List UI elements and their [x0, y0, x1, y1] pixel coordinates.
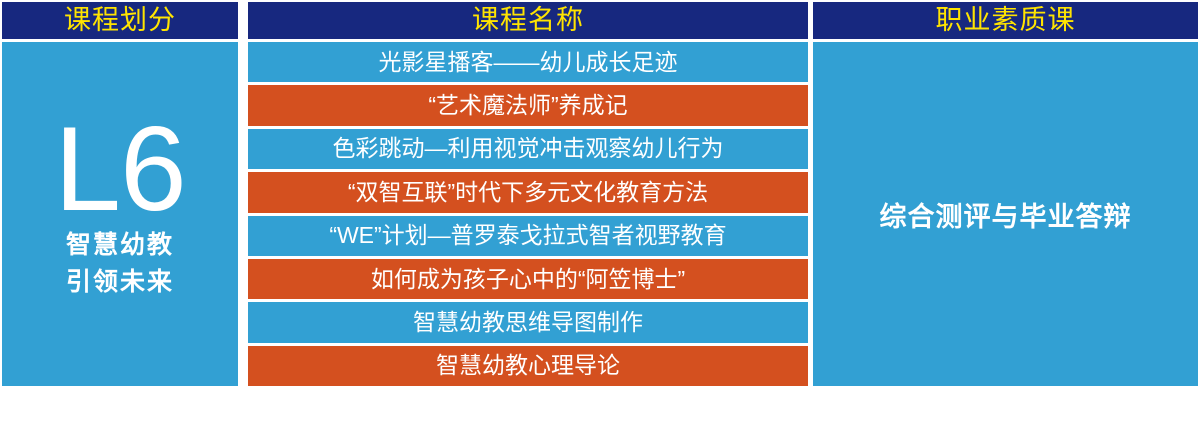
- quality-course-cell: 综合测评与毕业答辩: [813, 42, 1198, 386]
- course-row[interactable]: 智慧幼教心理导论: [248, 346, 808, 386]
- course-row[interactable]: 如何成为孩子心中的“阿笠博士”: [248, 259, 808, 299]
- division-level-code: L6: [54, 118, 185, 221]
- course-row[interactable]: “艺术魔法师”养成记: [248, 85, 808, 125]
- course-row[interactable]: “双智互联”时代下多元文化教育方法: [248, 172, 808, 212]
- course-row[interactable]: 智慧幼教思维导图制作: [248, 302, 808, 342]
- division-slogan-line-1: 智慧幼教: [66, 227, 174, 263]
- column-header-division: 课程划分: [2, 2, 238, 39]
- division-cell: L6 智慧幼教 引领未来: [2, 42, 238, 386]
- table-header-row: 课程划分 课程名称 职业素质课: [0, 0, 1200, 41]
- course-row[interactable]: 色彩跳动—利用视觉冲击观察幼儿行为: [248, 129, 808, 169]
- column-header-course-name: 课程名称: [248, 2, 808, 39]
- quality-course-label: 综合测评与毕业答辩: [880, 195, 1132, 234]
- course-list: 光影星播客——幼儿成长足迹 “艺术魔法师”养成记 色彩跳动—利用视觉冲击观察幼儿…: [248, 42, 808, 386]
- curriculum-table: 课程划分 课程名称 职业素质课 L6 智慧幼教 引领未来 光影星播客——幼儿成长…: [0, 0, 1200, 435]
- column-header-quality-course: 职业素质课: [813, 2, 1198, 39]
- course-row[interactable]: “WE”计划—普罗泰戈拉式智者视野教育: [248, 216, 808, 256]
- course-row[interactable]: 光影星播客——幼儿成长足迹: [248, 42, 808, 82]
- division-slogan-line-2: 引领未来: [66, 264, 174, 300]
